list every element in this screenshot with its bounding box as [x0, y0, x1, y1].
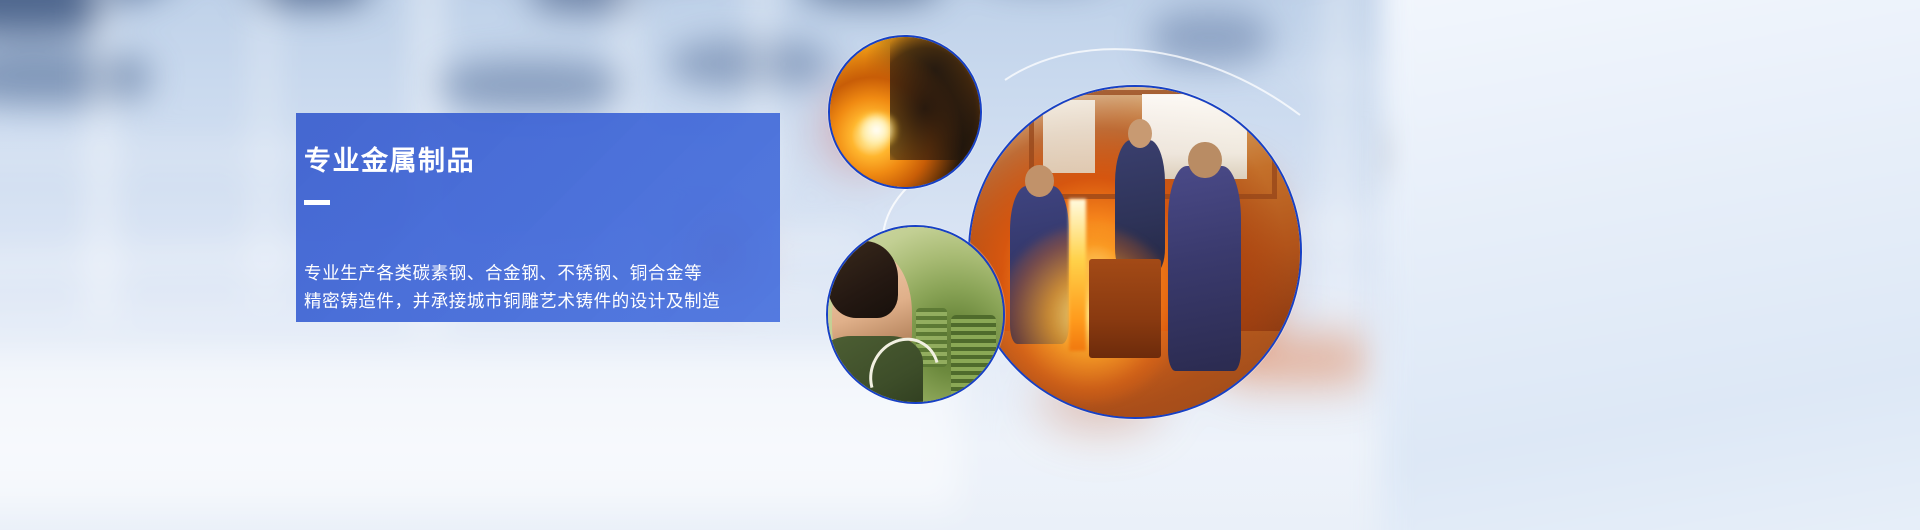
worker-photo: [826, 225, 1005, 404]
welding-photo: [828, 35, 982, 189]
intro-panel: 专业金属制品 专业生产各类碳素钢、合金钢、不锈钢、铜合金等 精密铸造件，并承接城…: [296, 113, 780, 322]
description-line-2: 精密铸造件，并承接城市铜雕艺术铸件的设计及制造: [304, 287, 774, 315]
description-line-1: 专业生产各类碳素钢、合金钢、不锈钢、铜合金等: [304, 259, 774, 287]
foundry-photo: [968, 85, 1302, 419]
panel-title: 专业金属制品: [304, 144, 475, 178]
title-divider: [304, 200, 330, 205]
hero-banner: 专业金属制品 专业生产各类碳素钢、合金钢、不锈钢、铜合金等 精密铸造件，并承接城…: [0, 0, 1920, 530]
panel-description: 专业生产各类碳素钢、合金钢、不锈钢、铜合金等 精密铸造件，并承接城市铜雕艺术铸件…: [304, 259, 774, 315]
